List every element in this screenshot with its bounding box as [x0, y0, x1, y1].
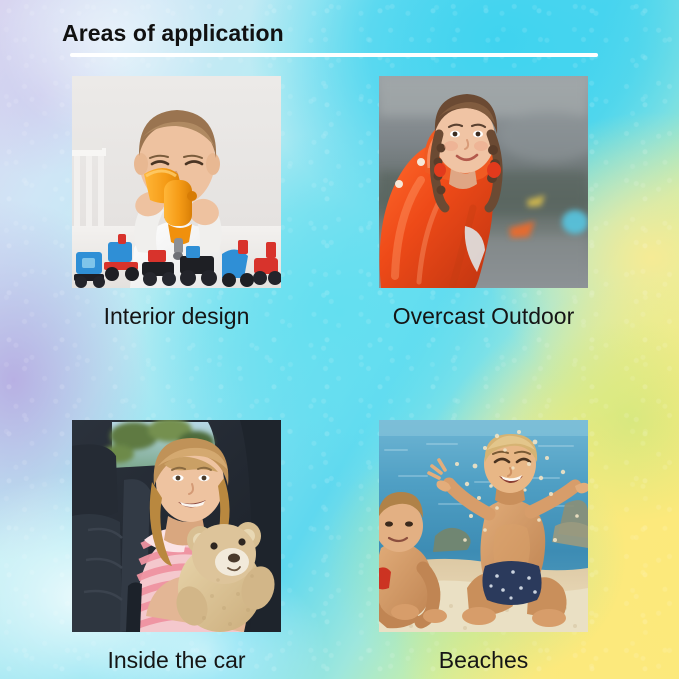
poster: Areas of application [0, 0, 679, 679]
caption-overcast-outdoor: Overcast Outdoor [379, 302, 588, 330]
page-title: Areas of application [62, 18, 602, 48]
application-grid: Interior design [72, 76, 588, 674]
caption-beaches: Beaches [379, 646, 588, 674]
photo-girl-in-orange-raincoat [379, 76, 588, 288]
photo-boy-with-toy-drill [72, 76, 281, 288]
header: Areas of application [62, 18, 602, 57]
caption-inside-the-car: Inside the car [72, 646, 281, 674]
caption-interior-design: Interior design [72, 302, 281, 330]
photo-two-kids-playing-on-beach [379, 420, 588, 632]
application-cell-beaches: Beaches [379, 420, 588, 674]
photo-girl-with-teddy-bear-in-car [72, 420, 281, 632]
application-cell-interior-design: Interior design [72, 76, 281, 330]
application-cell-inside-the-car: Inside the car [72, 420, 281, 674]
application-grid-row: Interior design [72, 76, 588, 330]
application-grid-row: Inside the car [72, 420, 588, 674]
application-cell-overcast-outdoor: Overcast Outdoor [379, 76, 588, 330]
title-underline-rule [70, 53, 598, 57]
